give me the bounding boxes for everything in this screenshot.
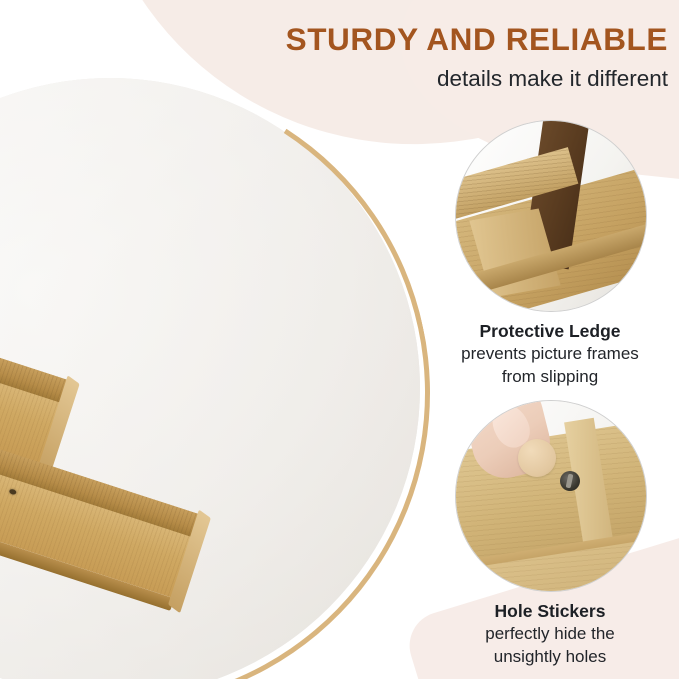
caption-line-1: prevents picture frames (420, 343, 679, 365)
caption-title: Protective Ledge (420, 320, 679, 343)
headline-block: STURDY AND RELIABLE details make it diff… (268, 22, 668, 93)
detail-photo-protective-ledge (455, 120, 647, 312)
hole-sticker-cap (518, 439, 556, 477)
caption-protective-ledge: Protective Ledge prevents picture frames… (420, 320, 679, 388)
caption-title: Hole Stickers (420, 600, 679, 623)
caption-line-2: unsightly holes (420, 646, 679, 668)
page-subtitle: details make it different (268, 66, 668, 93)
caption-hole-stickers: Hole Stickers perfectly hide the unsight… (420, 600, 679, 668)
page-title: STURDY AND RELIABLE (268, 22, 668, 57)
screw-head (560, 471, 580, 491)
caption-line-2: from slipping (420, 366, 679, 388)
product-detail-infographic: STURDY AND RELIABLE details make it diff… (0, 0, 679, 679)
hero-product-photo (0, 78, 420, 679)
detail-photo-hole-stickers (455, 400, 647, 592)
caption-line-1: perfectly hide the (420, 623, 679, 645)
